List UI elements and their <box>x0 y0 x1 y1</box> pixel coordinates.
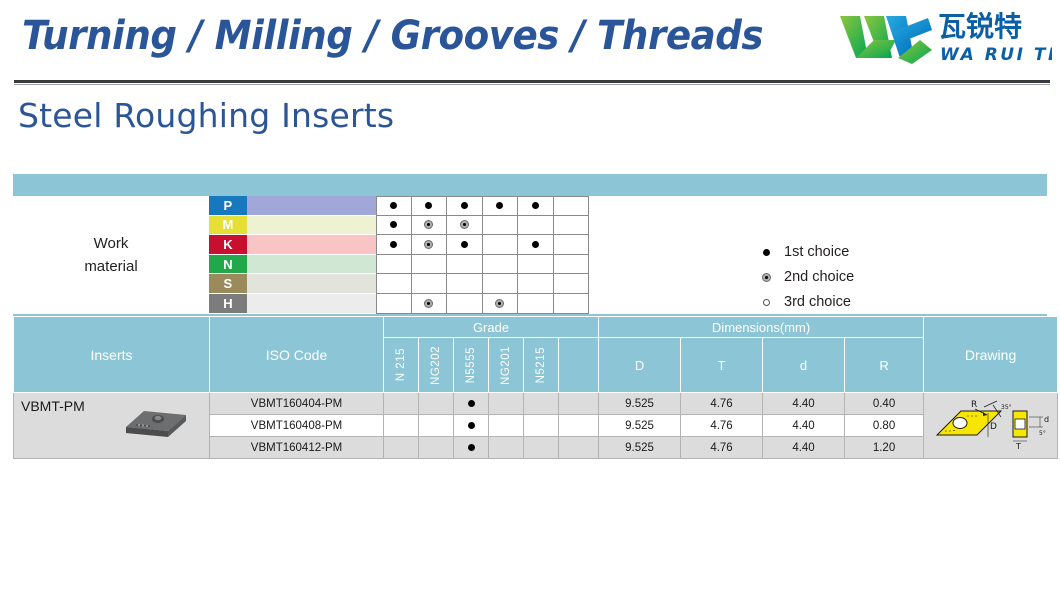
second-choice-dot <box>763 274 770 281</box>
second-choice-dot <box>425 241 432 248</box>
insert-family-name: VBMT-PM <box>21 398 85 414</box>
dimension-cell-T: 4.76 <box>681 437 763 459</box>
material-color-bar <box>247 274 376 294</box>
work-material-row: S <box>209 274 589 294</box>
grade-cell <box>559 415 599 437</box>
svg-text:d: d <box>1044 415 1049 424</box>
page-header: Turning / Milling / Grooves / Threads 瓦锐 <box>0 0 1060 82</box>
grade-label: NG202 <box>430 342 442 389</box>
legend-item: 3rd choice <box>761 290 854 315</box>
grade-column-header: N5215 <box>524 338 559 393</box>
material-choice-cell <box>447 274 483 294</box>
grade-cell <box>489 437 524 459</box>
grade-cell <box>384 437 419 459</box>
material-choice-cell <box>554 196 590 216</box>
col-header-dimensions: Dimensions(mm) <box>599 317 924 338</box>
material-choice-cell <box>518 216 554 236</box>
material-choice-cell <box>518 196 554 216</box>
material-choice-cell <box>412 216 448 236</box>
first-choice-dot <box>461 241 468 248</box>
grade-column-header: N5555 <box>454 338 489 393</box>
material-choice-cell <box>412 255 448 275</box>
material-choice-cell <box>483 216 519 236</box>
work-material-row: N <box>209 255 589 275</box>
table-row: VBMT-PMVBMT160404-PM9.5254.764.400.40R35… <box>14 393 1058 415</box>
material-code-m: M <box>209 216 247 236</box>
legend-label: 1st choice <box>784 240 849 265</box>
grade-cell <box>384 393 419 415</box>
grade-label: NG201 <box>500 342 512 389</box>
choice-legend: 1st choice2nd choice3rd choice <box>761 240 854 315</box>
company-logo: 瓦锐特 WA RUI TE <box>834 6 1052 72</box>
material-choice-cell <box>518 255 554 275</box>
legend-label: 3rd choice <box>784 290 851 315</box>
work-material-grid: PMKNSH <box>209 196 589 314</box>
material-choice-cell <box>376 196 412 216</box>
dimension-cell-D: 9.525 <box>599 393 681 415</box>
material-choice-cell <box>554 235 590 255</box>
grade-cell <box>454 415 489 437</box>
product-sheet: Work material PMKNSH 1st choice2nd choic… <box>13 174 1047 459</box>
first-choice-dot <box>390 241 397 248</box>
dimension-column-header-R: R <box>845 338 924 393</box>
svg-text:T: T <box>1015 442 1021 451</box>
header-divider-thin <box>14 84 1050 85</box>
first-choice-dot <box>468 422 475 429</box>
dimension-cell-d: 4.40 <box>763 437 845 459</box>
dimension-cell-R: 1.20 <box>845 437 924 459</box>
table-top-band <box>13 174 1047 196</box>
material-choice-cell <box>376 235 412 255</box>
grade-cell <box>454 393 489 415</box>
svg-text:WA RUI TE: WA RUI TE <box>940 45 1052 65</box>
col-header-iso-code: ISO Code <box>210 317 384 393</box>
svg-text:瓦锐特: 瓦锐特 <box>938 10 1022 43</box>
legend-marker <box>761 249 771 256</box>
material-choice-cell <box>483 255 519 275</box>
dimension-cell-T: 4.76 <box>681 415 763 437</box>
material-choice-cell <box>483 294 519 314</box>
dimension-column-header-T: T <box>681 338 763 393</box>
drawing-wrap: R35°Dd5°T <box>924 397 1057 455</box>
material-choice-cell <box>447 196 483 216</box>
material-choice-cell <box>412 294 448 314</box>
grade-cell <box>419 393 454 415</box>
drawing-cell: R35°Dd5°T <box>924 393 1058 459</box>
grade-cell <box>454 437 489 459</box>
first-choice-dot <box>496 202 503 209</box>
material-choice-cells <box>376 196 589 216</box>
work-material-row: P <box>209 196 589 216</box>
work-material-label: Work material <box>13 196 209 314</box>
material-choice-cell <box>376 294 412 314</box>
dimension-cell-d: 4.40 <box>763 393 845 415</box>
material-choice-cell <box>447 294 483 314</box>
third-choice-dot <box>763 299 770 306</box>
dimension-cell-D: 9.525 <box>599 437 681 459</box>
first-choice-dot <box>468 444 475 451</box>
material-choice-cell <box>412 235 448 255</box>
grade-label: N5555 <box>465 343 477 387</box>
work-material-row: H <box>209 294 589 314</box>
work-material-label-line2: material <box>84 255 137 278</box>
dimension-cell-d: 4.40 <box>763 415 845 437</box>
grade-cell <box>524 437 559 459</box>
material-choice-cells <box>376 255 589 275</box>
dimension-cell-R: 0.80 <box>845 415 924 437</box>
work-material-section: Work material PMKNSH 1st choice2nd choic… <box>13 196 1047 316</box>
grade-cell <box>384 415 419 437</box>
material-choice-cell <box>376 216 412 236</box>
material-choice-cells <box>376 235 589 255</box>
first-choice-dot <box>461 202 468 209</box>
dimension-column-header-d: d <box>763 338 845 393</box>
material-color-bar <box>247 216 376 236</box>
col-header-drawing: Drawing <box>924 317 1058 393</box>
material-choice-cells <box>376 294 589 314</box>
material-choice-cell <box>554 274 590 294</box>
material-color-bar <box>247 235 376 255</box>
material-choice-cell <box>447 216 483 236</box>
iso-code-cell: VBMT160412-PM <box>210 437 384 459</box>
material-choice-cell <box>447 235 483 255</box>
svg-text:R: R <box>971 400 977 410</box>
first-choice-dot <box>532 241 539 248</box>
material-choice-cell <box>554 216 590 236</box>
iso-code-cell: VBMT160408-PM <box>210 415 384 437</box>
material-choice-cell <box>376 274 412 294</box>
grade-label: N5215 <box>535 343 547 387</box>
legend-marker <box>761 274 771 281</box>
dimension-cell-R: 0.40 <box>845 393 924 415</box>
svg-text:5°: 5° <box>1039 430 1046 437</box>
material-choice-cell <box>518 235 554 255</box>
legend-marker <box>761 299 771 306</box>
grade-cell <box>524 415 559 437</box>
material-choice-cell <box>554 255 590 275</box>
insert-product-photo <box>122 405 192 443</box>
page-title: Steel Roughing Inserts <box>18 96 394 135</box>
dimension-cell-T: 4.76 <box>681 393 763 415</box>
material-choice-cell <box>376 255 412 275</box>
first-choice-dot <box>532 202 539 209</box>
second-choice-dot <box>496 300 503 307</box>
material-choice-cell <box>518 294 554 314</box>
material-choice-cell <box>483 235 519 255</box>
material-code-k: K <box>209 235 247 255</box>
second-choice-dot <box>461 221 468 228</box>
col-header-grade: Grade <box>384 317 599 338</box>
material-choice-cell <box>447 255 483 275</box>
material-choice-cell <box>518 274 554 294</box>
insert-photo-wrap <box>122 405 192 446</box>
grade-cell <box>559 393 599 415</box>
dimension-column-header-D: D <box>599 338 681 393</box>
insert-family-cell: VBMT-PM <box>14 393 210 459</box>
material-color-bar <box>247 255 376 275</box>
work-material-row: M <box>209 216 589 236</box>
svg-text:35°: 35° <box>1001 404 1012 411</box>
specification-table: Inserts ISO Code Grade Dimensions(mm) Dr… <box>13 316 1058 459</box>
material-code-h: H <box>209 294 247 314</box>
specification-body: VBMT-PMVBMT160404-PM9.5254.764.400.40R35… <box>14 393 1058 459</box>
first-choice-dot <box>390 202 397 209</box>
col-header-inserts: Inserts <box>14 317 210 393</box>
legend-item: 2nd choice <box>761 265 854 290</box>
header-divider <box>14 80 1050 83</box>
iso-code-cell: VBMT160404-PM <box>210 393 384 415</box>
first-choice-dot <box>763 249 770 256</box>
material-code-s: S <box>209 274 247 294</box>
grade-cell <box>419 437 454 459</box>
material-choice-cell <box>483 196 519 216</box>
banner-title: Turning / Milling / Grooves / Threads <box>22 13 763 59</box>
material-choice-cells <box>376 216 589 236</box>
grade-cell <box>489 393 524 415</box>
grade-cell <box>419 415 454 437</box>
legend-item: 1st choice <box>761 240 854 265</box>
second-choice-dot <box>425 300 432 307</box>
material-choice-cell <box>412 196 448 216</box>
first-choice-dot <box>390 221 397 228</box>
material-color-bar <box>247 294 376 314</box>
grade-column-header: NG202 <box>419 338 454 393</box>
grade-column-header <box>559 338 599 393</box>
grade-cell <box>559 437 599 459</box>
work-material-row: K <box>209 235 589 255</box>
legend-label: 2nd choice <box>784 265 854 290</box>
material-choice-cells <box>376 274 589 294</box>
first-choice-dot <box>425 202 432 209</box>
second-choice-dot <box>425 221 432 228</box>
work-material-label-line1: Work <box>94 232 129 255</box>
grade-column-header: NG201 <box>489 338 524 393</box>
grade-cell <box>489 415 524 437</box>
grade-label: N 215 <box>395 344 407 385</box>
insert-dimension-drawing: R35°Dd5°T <box>927 397 1055 455</box>
material-choice-cell <box>554 294 590 314</box>
svg-text:D: D <box>990 422 997 432</box>
material-code-n: N <box>209 255 247 275</box>
grade-cell <box>524 393 559 415</box>
material-choice-cell <box>483 274 519 294</box>
material-choice-cell <box>412 274 448 294</box>
dimension-cell-D: 9.525 <box>599 415 681 437</box>
material-color-bar <box>247 196 376 216</box>
first-choice-dot <box>468 400 475 407</box>
material-code-p: P <box>209 196 247 216</box>
grade-column-header: N 215 <box>384 338 419 393</box>
